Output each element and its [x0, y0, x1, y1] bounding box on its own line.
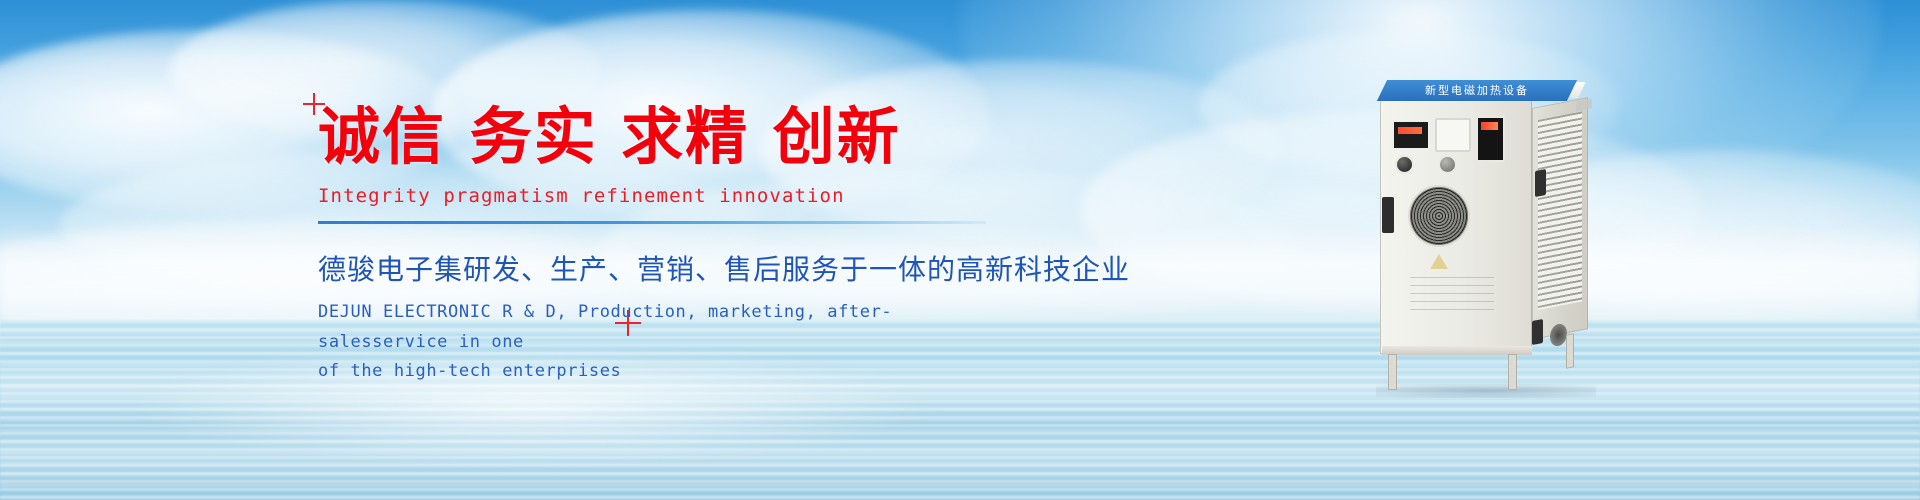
headline-english: Integrity pragmatism refinement innovati… — [318, 185, 1018, 207]
description-english-line1: DEJUN ELECTRONIC R & D, Production, mark… — [318, 298, 1018, 358]
product-machine-image: 新型电磁加热设备 — [1380, 62, 1710, 392]
machine-port — [1382, 197, 1394, 233]
machine-label-text: 新型电磁加热设备 — [1425, 80, 1529, 101]
machine-label-banner: 新型电磁加热设备 — [1377, 80, 1577, 101]
digital-display-2 — [1476, 116, 1505, 162]
side-handle-lower — [1532, 319, 1543, 345]
machine-vent-grille — [1538, 111, 1582, 310]
machine-top-corner — [1576, 98, 1592, 111]
banner-text-block: 诚信 务实 求精 创新 Integrity pragmatism refinem… — [318, 104, 1018, 387]
promo-banner: 诚信 务实 求精 创新 Integrity pragmatism refinem… — [0, 0, 1920, 500]
side-handle-upper — [1535, 169, 1546, 197]
machine-leg — [1566, 333, 1574, 369]
machine-spec-label — [1410, 277, 1494, 311]
control-knob-2 — [1440, 157, 1455, 172]
control-knob-1 — [1397, 157, 1412, 172]
analog-gauge — [1435, 118, 1471, 152]
divider-rule — [318, 221, 986, 224]
side-cable-port — [1550, 322, 1567, 347]
description-chinese: 德骏电子集研发、生产、营销、售后服务于一体的高新科技企业 — [318, 248, 1018, 288]
description-english-line2: of the high-tech enterprises — [318, 357, 1018, 387]
headline-chinese: 诚信 务实 求精 创新 — [318, 104, 1018, 171]
cooling-fan-grille — [1410, 187, 1468, 245]
description-english: DEJUN ELECTRONIC R & D, Production, mark… — [318, 298, 1018, 387]
warning-triangle-icon — [1430, 254, 1448, 269]
digital-display-1 — [1392, 120, 1430, 150]
machine-shadow — [1376, 384, 1596, 398]
machine-leg — [1508, 354, 1517, 390]
machine-leg — [1388, 354, 1397, 390]
